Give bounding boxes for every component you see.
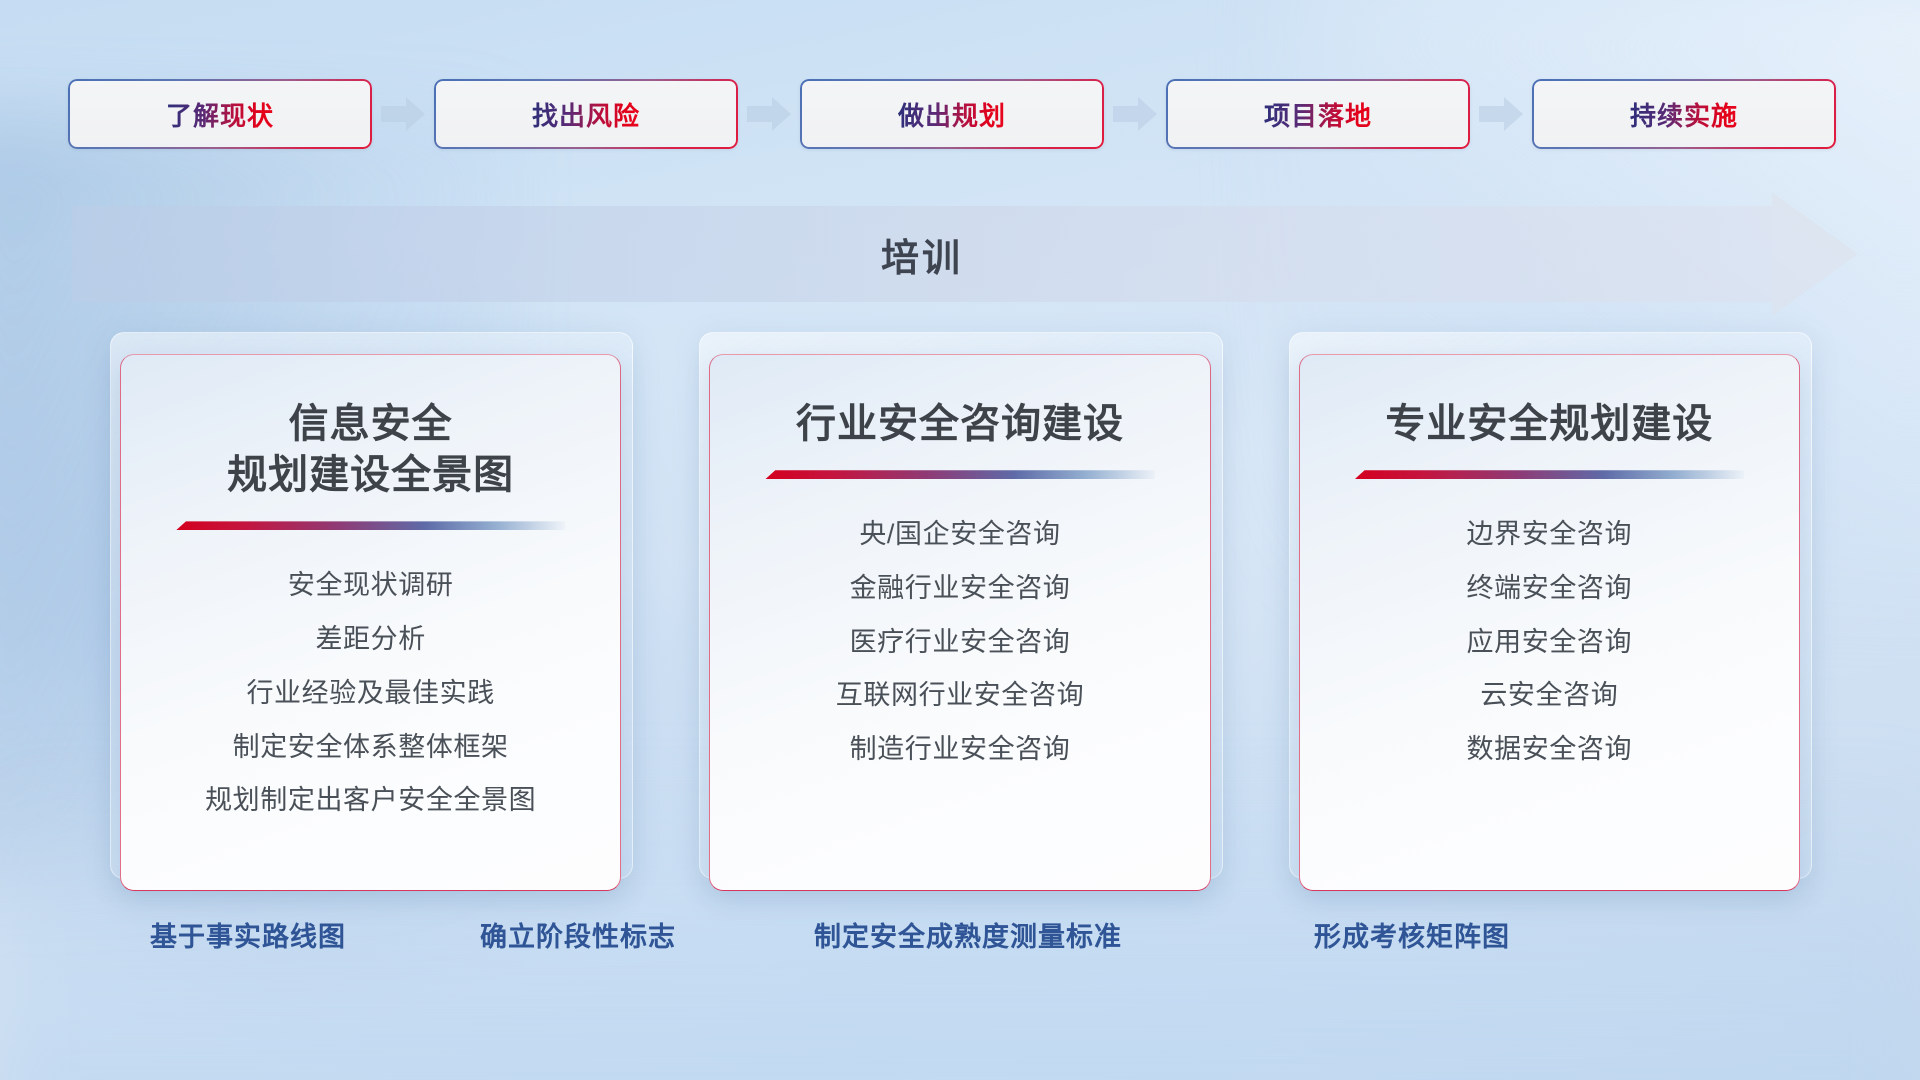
list-item: 央/国企安全咨询 [859, 513, 1060, 557]
training-banner-title: 培训 [72, 206, 1772, 302]
card-3-list: 边界安全咨询 终端安全咨询 应用安全咨询 云安全咨询 数据安全咨询 [1300, 513, 1799, 772]
slide-canvas: 了解现状 找出风险 做出规划 项目落地 [0, 0, 1920, 1080]
list-item: 行业经验及最佳实践 [246, 672, 494, 716]
step-label-1: 了解现状 [166, 96, 274, 133]
card-row: 信息安全 规划建设全景图 安全现状调研 差距分析 行业经验及最佳实践 制定安全体… [110, 332, 1810, 877]
list-item: 应用安全咨询 [1467, 621, 1633, 665]
footer-label-row: 基于事实路线图 确立阶段性标志 制定安全成熟度测量标准 形成考核矩阵图 [0, 915, 1920, 971]
step-chip-2[interactable]: 找出风险 [434, 79, 738, 149]
card-3-title: 专业安全规划建设 [1367, 399, 1731, 450]
card-1-title: 信息安全 规划建设全景图 [209, 399, 532, 501]
step-chip-4[interactable]: 项目落地 [1166, 79, 1470, 149]
step-arrow-icon-2 [738, 93, 800, 135]
step-label-4: 项目落地 [1264, 96, 1372, 133]
training-banner: 培训 [72, 206, 1858, 302]
card-2-divider [765, 470, 1154, 479]
list-item: 安全现状调研 [288, 564, 454, 608]
list-item: 医疗行业安全咨询 [850, 621, 1071, 665]
list-item: 云安全咨询 [1480, 674, 1618, 718]
card-3-panel[interactable]: 专业安全规划建设 边界安全咨询 终端安全咨询 应用安全咨询 云安全咨询 数据安全… [1299, 354, 1800, 891]
card-3: 专业安全规划建设 边界安全咨询 终端安全咨询 应用安全咨询 云安全咨询 数据安全… [1289, 332, 1810, 877]
card-2-list: 央/国企安全咨询 金融行业安全咨询 医疗行业安全咨询 互联网行业安全咨询 制造行… [710, 513, 1209, 772]
list-item: 边界安全咨询 [1467, 513, 1633, 557]
footer-label-1: 基于事实路线图 [150, 915, 346, 954]
step-label-3: 做出规划 [898, 96, 1006, 133]
card-2-title: 行业安全咨询建设 [778, 399, 1142, 450]
list-item: 互联网行业安全咨询 [836, 674, 1084, 718]
process-step-row: 了解现状 找出风险 做出规划 项目落地 [68, 78, 1858, 150]
step-label-5: 持续实施 [1630, 96, 1738, 133]
list-item: 金融行业安全咨询 [850, 567, 1071, 611]
list-item: 终端安全咨询 [1467, 567, 1633, 611]
footer-label-3: 制定安全成熟度测量标准 [814, 915, 1122, 954]
list-item: 制定安全体系整体框架 [233, 726, 509, 770]
list-item: 规划制定出客户安全全景图 [205, 779, 536, 823]
step-arrow-icon-4 [1470, 93, 1532, 135]
card-3-divider [1355, 470, 1744, 479]
card-2-panel[interactable]: 行业安全咨询建设 央/国企安全咨询 金融行业安全咨询 医疗行业安全咨询 互联网行… [709, 354, 1210, 891]
step-label-2: 找出风险 [532, 96, 640, 133]
list-item: 差距分析 [315, 618, 425, 662]
list-item: 制造行业安全咨询 [850, 728, 1071, 772]
footer-label-2: 确立阶段性标志 [480, 915, 676, 954]
step-chip-5[interactable]: 持续实施 [1532, 79, 1836, 149]
training-banner-arrow-icon [1772, 192, 1858, 316]
card-1-list: 安全现状调研 差距分析 行业经验及最佳实践 制定安全体系整体框架 规划制定出客户… [121, 564, 620, 823]
step-chip-1[interactable]: 了解现状 [68, 79, 372, 149]
step-arrow-icon-3 [1104, 93, 1166, 135]
card-1-divider [176, 521, 565, 530]
card-2: 行业安全咨询建设 央/国企安全咨询 金融行业安全咨询 医疗行业安全咨询 互联网行… [699, 332, 1220, 877]
step-chip-3[interactable]: 做出规划 [800, 79, 1104, 149]
card-1-panel[interactable]: 信息安全 规划建设全景图 安全现状调研 差距分析 行业经验及最佳实践 制定安全体… [120, 354, 621, 891]
step-arrow-icon-1 [372, 93, 434, 135]
card-1: 信息安全 规划建设全景图 安全现状调研 差距分析 行业经验及最佳实践 制定安全体… [110, 332, 631, 877]
footer-label-4: 形成考核矩阵图 [1314, 915, 1510, 954]
list-item: 数据安全咨询 [1467, 728, 1633, 772]
